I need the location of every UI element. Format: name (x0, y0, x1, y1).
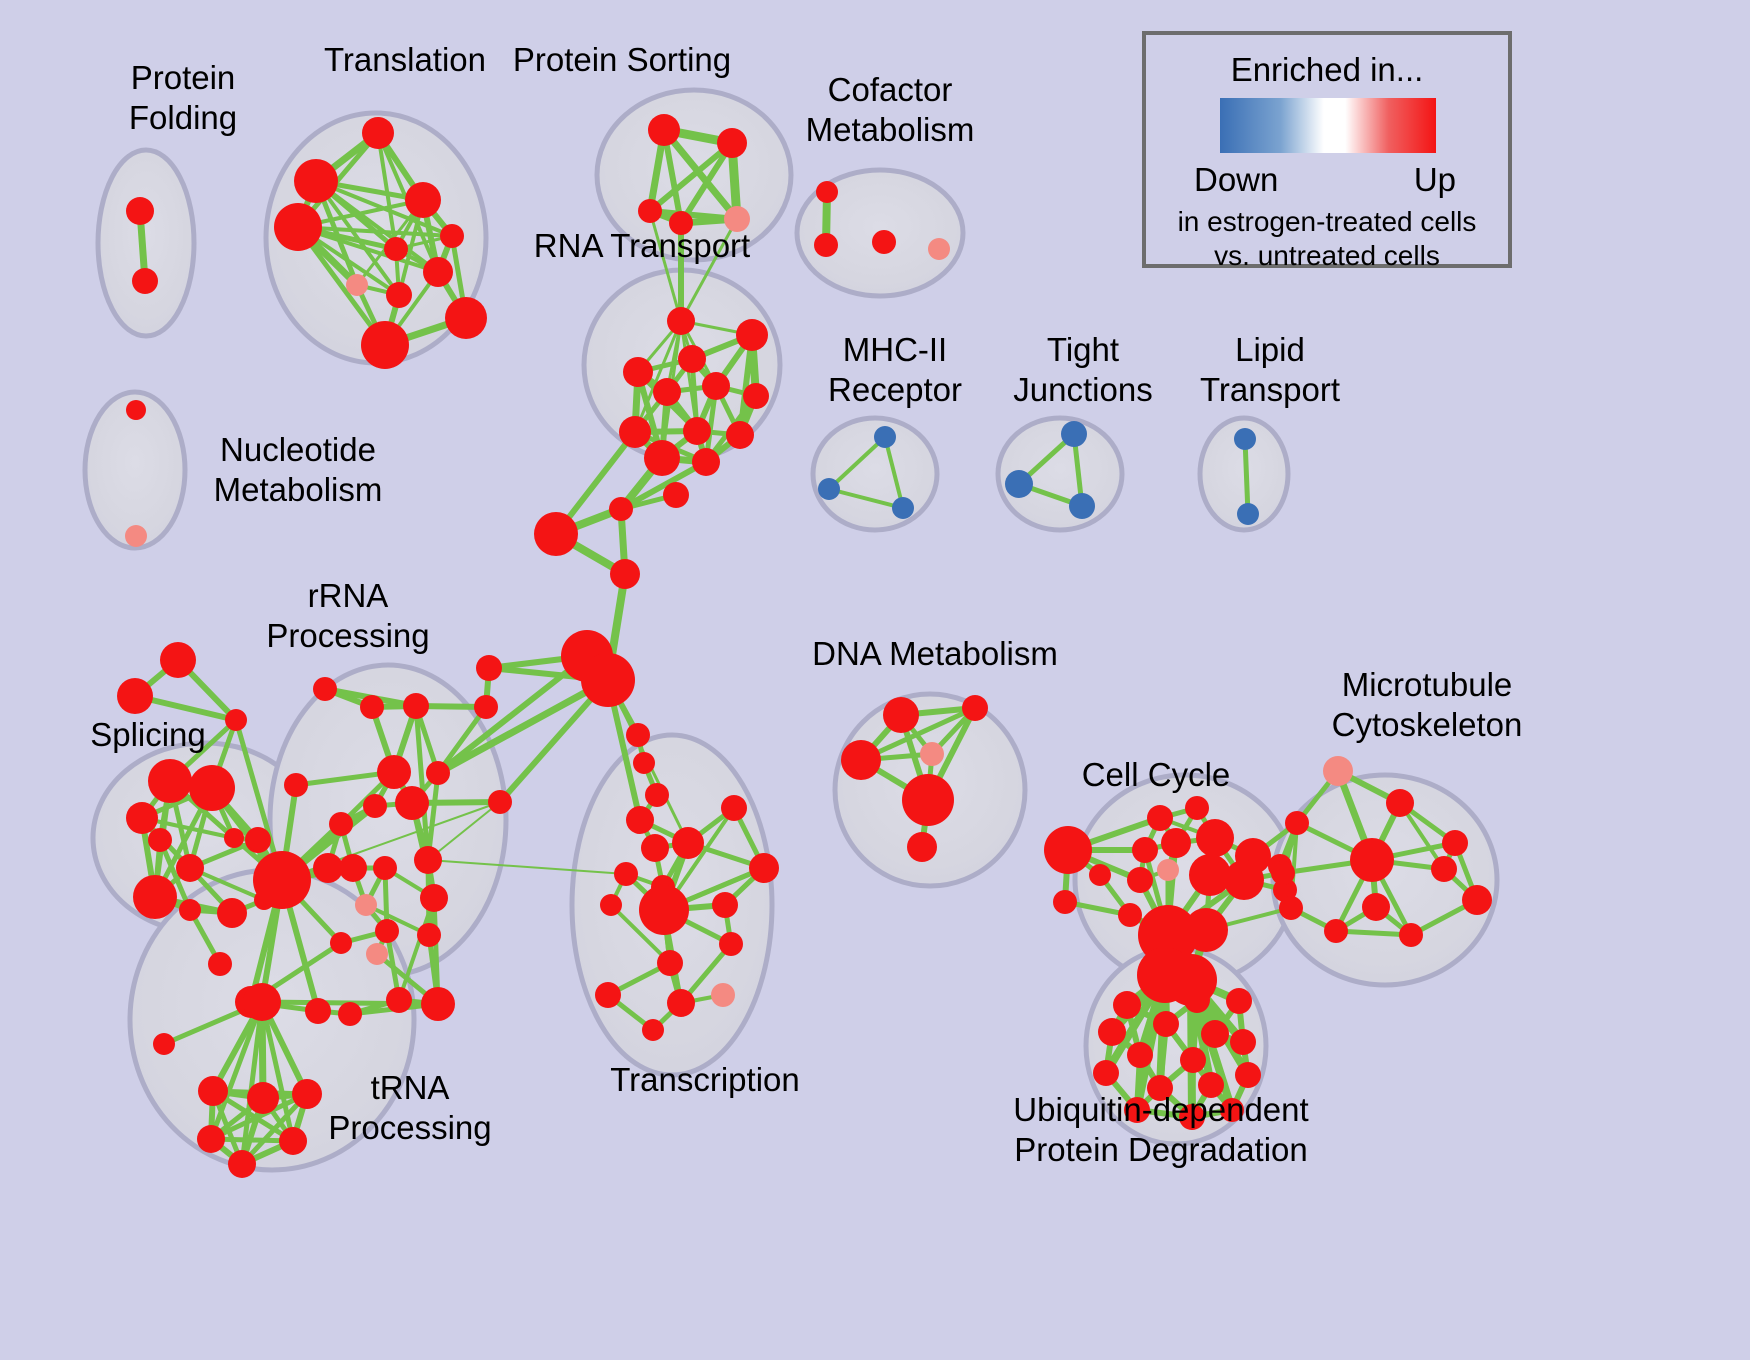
node-bridge[interactable] (581, 653, 635, 707)
node-splicing[interactable] (189, 765, 235, 811)
node-translation[interactable] (346, 274, 368, 296)
node-transcription[interactable] (626, 806, 654, 834)
node-rrna-processing[interactable] (366, 943, 388, 965)
node-rna-transport[interactable] (678, 345, 706, 373)
node-rrna-processing[interactable] (420, 884, 448, 912)
cluster-label-line: Cytoskeleton (1312, 705, 1542, 745)
cluster-label-mhc-ii-receptor: MHC-IIReceptor (800, 330, 990, 410)
cluster-label-line: rRNA (248, 576, 448, 616)
node-ubiquitin-protein-degradation[interactable] (1184, 987, 1210, 1013)
cluster-label-line: Protein Sorting (497, 40, 747, 80)
node-ubiquitin-protein-degradation[interactable] (1098, 1018, 1126, 1046)
cluster-label-line: Translation (290, 40, 520, 80)
node-transcription[interactable] (711, 983, 735, 1007)
cluster-label-trna-processing: tRNAProcessing (310, 1068, 510, 1148)
node-bridge[interactable] (663, 482, 689, 508)
node-ubiquitin-protein-degradation[interactable] (1230, 1029, 1256, 1055)
node-lipid-transport[interactable] (1237, 503, 1259, 525)
cluster-label-dna-metabolism: DNA Metabolism (805, 634, 1065, 674)
node-transcription[interactable] (672, 827, 704, 859)
cluster-ellipse-protein-folding (98, 150, 194, 336)
node-mhc-ii-receptor[interactable] (892, 497, 914, 519)
cluster-label-line: Transcription (580, 1060, 830, 1100)
node-mhc-ii-receptor[interactable] (818, 478, 840, 500)
node-rrna-processing[interactable] (305, 998, 331, 1024)
cluster-label-line: MHC-II (800, 330, 990, 370)
node-transcription[interactable] (721, 795, 747, 821)
node-splicing[interactable] (224, 828, 244, 848)
node-cell-cycle[interactable] (1132, 837, 1158, 863)
node-splicing[interactable] (217, 898, 247, 928)
node-transcription[interactable] (600, 894, 622, 916)
cluster-label-line: RNA Transport (517, 226, 767, 266)
node-transcription[interactable] (642, 1019, 664, 1041)
node-translation[interactable] (440, 224, 464, 248)
cluster-label-line: Cofactor (790, 70, 990, 110)
node-microtubule-cytoskeleton[interactable] (1285, 811, 1309, 835)
node-bridge[interactable] (488, 790, 512, 814)
node-cell-cycle[interactable] (1118, 903, 1142, 927)
node-rrna-processing[interactable] (373, 856, 397, 880)
edge-lipid-transport (1245, 439, 1248, 514)
node-cell-cycle[interactable] (1196, 819, 1234, 857)
node-bridge[interactable] (474, 695, 498, 719)
cluster-label-line: Junctions (988, 370, 1178, 410)
node-microtubule-cytoskeleton[interactable] (1350, 838, 1394, 882)
node-rrna-processing[interactable] (253, 851, 311, 909)
node-bridge[interactable] (609, 497, 633, 521)
node-cell-cycle[interactable] (1184, 908, 1228, 952)
node-rna-transport[interactable] (653, 378, 681, 406)
node-rna-transport[interactable] (743, 383, 769, 409)
node-tight-junctions[interactable] (1069, 493, 1095, 519)
cluster-label-cell-cycle: Cell Cycle (1056, 755, 1256, 795)
enrichment-map-figure: ProteinFoldingTranslationProtein Sorting… (0, 0, 1750, 1360)
node-trna-processing[interactable] (247, 1082, 279, 1114)
cluster-label-line: DNA Metabolism (805, 634, 1065, 674)
node-rrna-processing[interactable] (386, 987, 412, 1013)
legend-title: Enriched in... (1146, 51, 1508, 89)
node-lipid-transport[interactable] (1234, 428, 1256, 450)
node-bridge[interactable] (626, 723, 650, 747)
node-rna-transport[interactable] (683, 417, 711, 445)
node-bridge[interactable] (633, 752, 655, 774)
node-rna-transport[interactable] (726, 421, 754, 449)
node-transcription[interactable] (641, 834, 669, 862)
node-translation[interactable] (274, 203, 322, 251)
node-splicing[interactable] (148, 828, 172, 852)
node-ubiquitin-protein-degradation[interactable] (1153, 1011, 1179, 1037)
node-rrna-processing[interactable] (329, 812, 353, 836)
node-cell-cycle[interactable] (1089, 864, 1111, 886)
cluster-label-tight-junctions: TightJunctions (988, 330, 1178, 410)
node-cell-cycle[interactable] (1224, 860, 1264, 900)
node-rna-transport[interactable] (692, 448, 720, 476)
legend-box: Enriched in... Down Up in estrogen-treat… (1142, 31, 1512, 268)
node-translation[interactable] (445, 297, 487, 339)
node-dna-metabolism[interactable] (962, 695, 988, 721)
node-bridge[interactable] (645, 783, 669, 807)
node-cofactor-metabolism[interactable] (872, 230, 896, 254)
node-rrna-processing[interactable] (403, 693, 429, 719)
node-rrna-processing[interactable] (421, 987, 455, 1021)
node-microtubule-cytoskeleton[interactable] (1271, 861, 1295, 885)
node-rna-transport[interactable] (644, 440, 680, 476)
node-ubiquitin-protein-degradation[interactable] (1093, 1060, 1119, 1086)
node-cell-cycle[interactable] (1147, 805, 1173, 831)
node-cell-cycle[interactable] (1157, 859, 1179, 881)
node-ubiquitin-protein-degradation[interactable] (1180, 1047, 1206, 1073)
node-rrna-processing[interactable] (330, 932, 352, 954)
node-microtubule-cytoskeleton[interactable] (1442, 830, 1468, 856)
cluster-label-line: Processing (310, 1108, 510, 1148)
node-splicing[interactable] (133, 875, 177, 919)
node-cell-cycle[interactable] (1127, 867, 1153, 893)
cluster-label-splicing: Splicing (58, 715, 238, 755)
node-tight-junctions[interactable] (1061, 421, 1087, 447)
cluster-label-line: Microtubule (1312, 665, 1542, 705)
node-transcription[interactable] (667, 989, 695, 1017)
legend-subtitle-line-1: in estrogen-treated cells (1146, 205, 1508, 239)
cluster-label-microtubule-cytoskeleton: MicrotubuleCytoskeleton (1312, 665, 1542, 745)
node-rrna-processing[interactable] (284, 773, 308, 797)
node-rna-transport[interactable] (619, 416, 651, 448)
cluster-label-protein-sorting: Protein Sorting (497, 40, 747, 80)
cluster-label-nucleotide-metabolism: NucleotideMetabolism (198, 430, 398, 510)
node-ubiquitin-protein-degradation[interactable] (1201, 1020, 1229, 1048)
node-rrna-processing[interactable] (355, 894, 377, 916)
node-transcription[interactable] (749, 853, 779, 883)
cluster-label-line: Transport (1175, 370, 1365, 410)
node-translation[interactable] (384, 237, 408, 261)
cluster-label-line: Protein Degradation (996, 1130, 1326, 1170)
node-rna-transport[interactable] (736, 319, 768, 351)
node-trna-processing[interactable] (197, 1125, 225, 1153)
node-ubiquitin-protein-degradation[interactable] (1113, 991, 1141, 1019)
cluster-label-cofactor-metabolism: CofactorMetabolism (790, 70, 990, 150)
node-protein-sorting[interactable] (638, 199, 662, 223)
node-rrna-processing[interactable] (417, 923, 441, 947)
node-trna-processing[interactable] (153, 1033, 175, 1055)
cluster-label-line: Splicing (58, 715, 238, 755)
node-transcription[interactable] (657, 950, 683, 976)
cluster-label-line: Protein (88, 58, 278, 98)
node-dna-metabolism[interactable] (841, 740, 881, 780)
node-microtubule-cytoskeleton[interactable] (1324, 919, 1348, 943)
node-rrna-processing[interactable] (377, 755, 411, 789)
node-microtubule-cytoskeleton[interactable] (1399, 923, 1423, 947)
node-rrna-processing[interactable] (375, 919, 399, 943)
node-trna-processing[interactable] (243, 983, 281, 1021)
cluster-label-line: Lipid (1175, 330, 1365, 370)
node-cell-cycle[interactable] (1161, 828, 1191, 858)
node-ubiquitin-protein-degradation[interactable] (1127, 1042, 1153, 1068)
node-translation[interactable] (386, 282, 412, 308)
node-microtubule-cytoskeleton[interactable] (1323, 756, 1353, 786)
node-tight-junctions[interactable] (1005, 470, 1033, 498)
node-protein-sorting[interactable] (717, 128, 747, 158)
legend-low-label: Down (1194, 161, 1278, 199)
node-splicing[interactable] (247, 830, 267, 850)
node-rrna-processing[interactable] (313, 853, 343, 883)
node-rrna-processing[interactable] (338, 1002, 362, 1026)
node-ubiquitin-protein-degradation[interactable] (1226, 988, 1252, 1014)
node-bridge[interactable] (610, 559, 640, 589)
node-cofactor-metabolism[interactable] (928, 238, 950, 260)
node-transcription[interactable] (719, 932, 743, 956)
cluster-label-line: Tight (988, 330, 1178, 370)
node-trna-processing[interactable] (228, 1150, 256, 1178)
node-translation[interactable] (294, 159, 338, 203)
node-rna-transport[interactable] (623, 357, 653, 387)
node-splicing[interactable] (208, 952, 232, 976)
node-rrna-processing[interactable] (414, 846, 442, 874)
node-microtubule-cytoskeleton[interactable] (1386, 789, 1414, 817)
cluster-label-transcription: Transcription (580, 1060, 830, 1100)
node-splicing[interactable] (160, 642, 196, 678)
cluster-label-rna-transport: RNA Transport (517, 226, 767, 266)
node-transcription[interactable] (595, 982, 621, 1008)
node-transcription[interactable] (639, 885, 689, 935)
node-nucleotide-metabolism[interactable] (125, 525, 147, 547)
node-translation[interactable] (361, 321, 409, 369)
node-rna-transport[interactable] (702, 372, 730, 400)
node-dna-metabolism[interactable] (902, 774, 954, 826)
cluster-label-line: Processing (248, 616, 448, 656)
node-bridge[interactable] (534, 512, 578, 556)
node-dna-metabolism[interactable] (907, 832, 937, 862)
node-rrna-processing[interactable] (339, 854, 367, 882)
node-cofactor-metabolism[interactable] (816, 181, 838, 203)
legend-subtitle: in estrogen-treated cells vs. untreated … (1146, 205, 1508, 273)
node-trna-processing[interactable] (279, 1127, 307, 1155)
node-microtubule-cytoskeleton[interactable] (1431, 856, 1457, 882)
legend-high-label: Up (1414, 161, 1456, 199)
node-splicing[interactable] (148, 759, 192, 803)
cluster-label-line: tRNA (310, 1068, 510, 1108)
node-rna-transport[interactable] (667, 307, 695, 335)
node-dna-metabolism[interactable] (920, 742, 944, 766)
cluster-label-line: Metabolism (790, 110, 990, 150)
node-microtubule-cytoskeleton[interactable] (1279, 896, 1303, 920)
node-microtubule-cytoskeleton[interactable] (1362, 893, 1390, 921)
cluster-label-line: Metabolism (198, 470, 398, 510)
node-rrna-processing[interactable] (395, 786, 429, 820)
cluster-label-line: Cell Cycle (1056, 755, 1256, 795)
node-ubiquitin-protein-degradation[interactable] (1235, 1062, 1261, 1088)
node-cell-cycle[interactable] (1044, 826, 1092, 874)
node-transcription[interactable] (614, 862, 638, 886)
cluster-label-lipid-transport: LipidTransport (1175, 330, 1365, 410)
cluster-label-protein-folding: ProteinFolding (88, 58, 278, 138)
node-protein-sorting[interactable] (648, 114, 680, 146)
node-cell-cycle[interactable] (1185, 796, 1209, 820)
node-microtubule-cytoskeleton[interactable] (1462, 885, 1492, 915)
node-dna-metabolism[interactable] (883, 697, 919, 733)
legend-subtitle-line-2: vs. untreated cells (1146, 239, 1508, 273)
node-splicing[interactable] (176, 854, 204, 882)
legend-color-bar (1220, 98, 1436, 153)
node-rrna-processing[interactable] (426, 761, 450, 785)
node-splicing[interactable] (117, 678, 153, 714)
node-splicing[interactable] (126, 802, 158, 834)
node-mhc-ii-receptor[interactable] (874, 426, 896, 448)
node-cofactor-metabolism[interactable] (814, 233, 838, 257)
cluster-label-rrna-processing: rRNAProcessing (248, 576, 448, 656)
node-translation[interactable] (362, 117, 394, 149)
cluster-label-translation: Translation (290, 40, 520, 80)
cluster-label-line: Folding (88, 98, 278, 138)
node-splicing[interactable] (179, 899, 201, 921)
node-transcription[interactable] (712, 892, 738, 918)
node-trna-processing[interactable] (198, 1076, 228, 1106)
cluster-label-line: Receptor (800, 370, 990, 410)
cluster-label-line: Ubiquitin-dependent (996, 1090, 1326, 1130)
node-translation[interactable] (423, 257, 453, 287)
node-rrna-processing[interactable] (360, 695, 384, 719)
node-protein-folding[interactable] (132, 268, 158, 294)
node-rrna-processing[interactable] (313, 677, 337, 701)
node-cell-cycle[interactable] (1053, 890, 1077, 914)
node-translation[interactable] (405, 182, 441, 218)
node-nucleotide-metabolism[interactable] (126, 400, 146, 420)
cluster-label-ubiquitin-protein-degradation: Ubiquitin-dependentProtein Degradation (996, 1090, 1326, 1170)
node-bridge[interactable] (476, 655, 502, 681)
node-protein-folding[interactable] (126, 197, 154, 225)
node-rrna-processing[interactable] (363, 794, 387, 818)
cluster-label-line: Nucleotide (198, 430, 398, 470)
